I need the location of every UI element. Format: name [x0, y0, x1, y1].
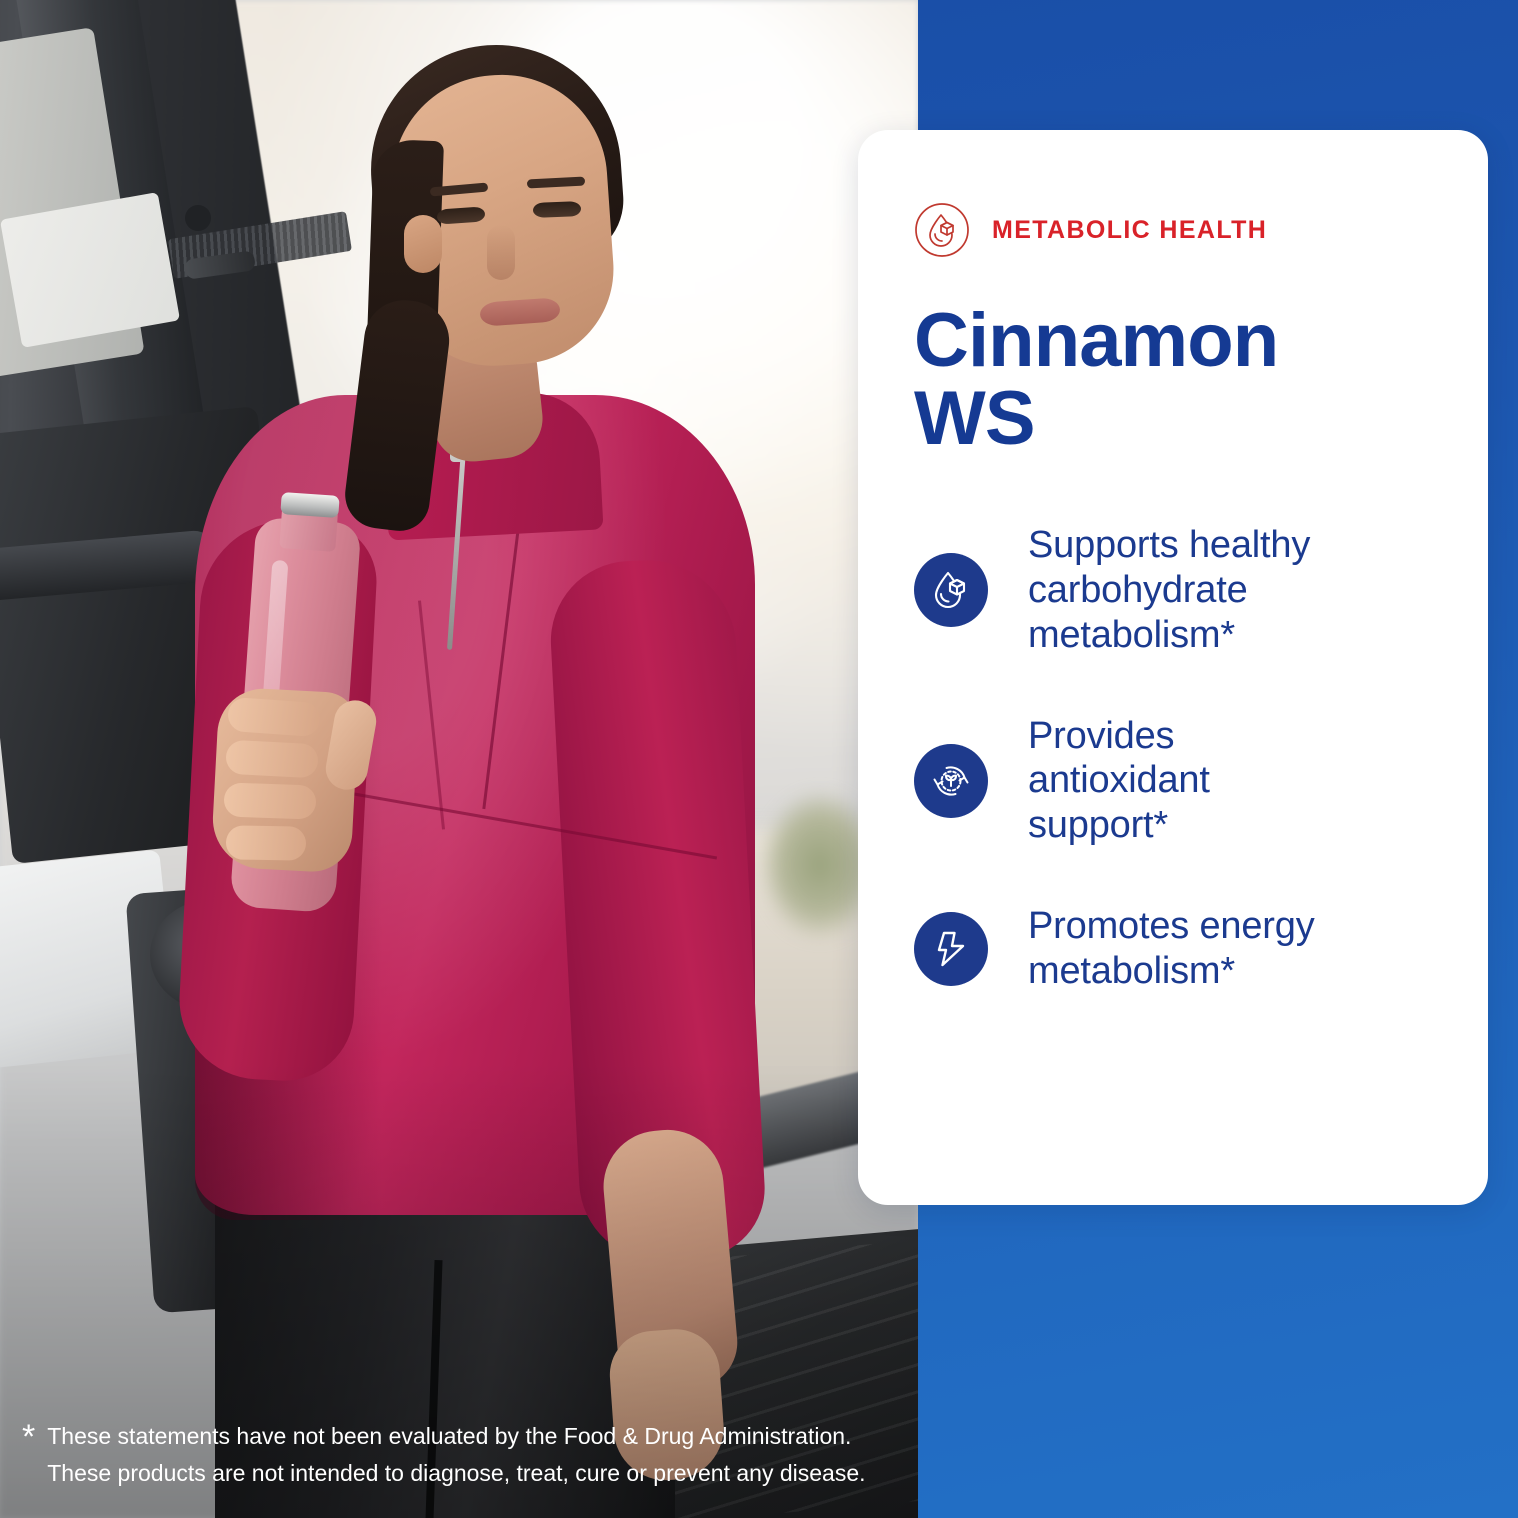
droplet-sugar-cube-icon: [914, 553, 988, 627]
lightning-bolt-icon: [914, 912, 988, 986]
category-badge-label: METABOLIC HEALTH: [992, 216, 1267, 245]
benefit-text: Promotes energy metabolism*: [1028, 904, 1432, 994]
benefits-list: Supports healthy carbohydrate metabolism…: [914, 523, 1432, 994]
disclaimer-line-2: These products are not intended to diagn…: [47, 1460, 865, 1486]
page-title: Cinnamon WS: [914, 302, 1314, 457]
benefit-item-antioxidant-support: Provides antioxidant support*: [914, 714, 1432, 848]
antioxidant-renewal-sprout-icon: [914, 744, 988, 818]
droplet-sugar-cube-icon: [914, 202, 970, 258]
marketing-banner: METABOLIC HEALTH Cinnamon WS Supports he…: [0, 0, 1518, 1518]
disclaimer-text: These statements have not been evaluated…: [47, 1418, 865, 1493]
benefit-text: Supports healthy carbohydrate metabolism…: [1028, 523, 1432, 657]
disclaimer-line-1: These statements have not been evaluated…: [47, 1423, 851, 1449]
category-badge: METABOLIC HEALTH: [914, 202, 1432, 258]
lifestyle-photo: [0, 0, 918, 1518]
disclaimer-asterisk: *: [22, 1420, 35, 1454]
fda-disclaimer: * These statements have not been evaluat…: [22, 1418, 912, 1493]
benefit-item-energy-metabolism: Promotes energy metabolism*: [914, 904, 1432, 994]
photo-bottom-vignette: [0, 0, 918, 1518]
benefit-text: Provides antioxidant support*: [1028, 714, 1328, 848]
product-info-card: METABOLIC HEALTH Cinnamon WS Supports he…: [858, 130, 1488, 1205]
benefit-item-carbohydrate-metabolism: Supports healthy carbohydrate metabolism…: [914, 523, 1432, 657]
